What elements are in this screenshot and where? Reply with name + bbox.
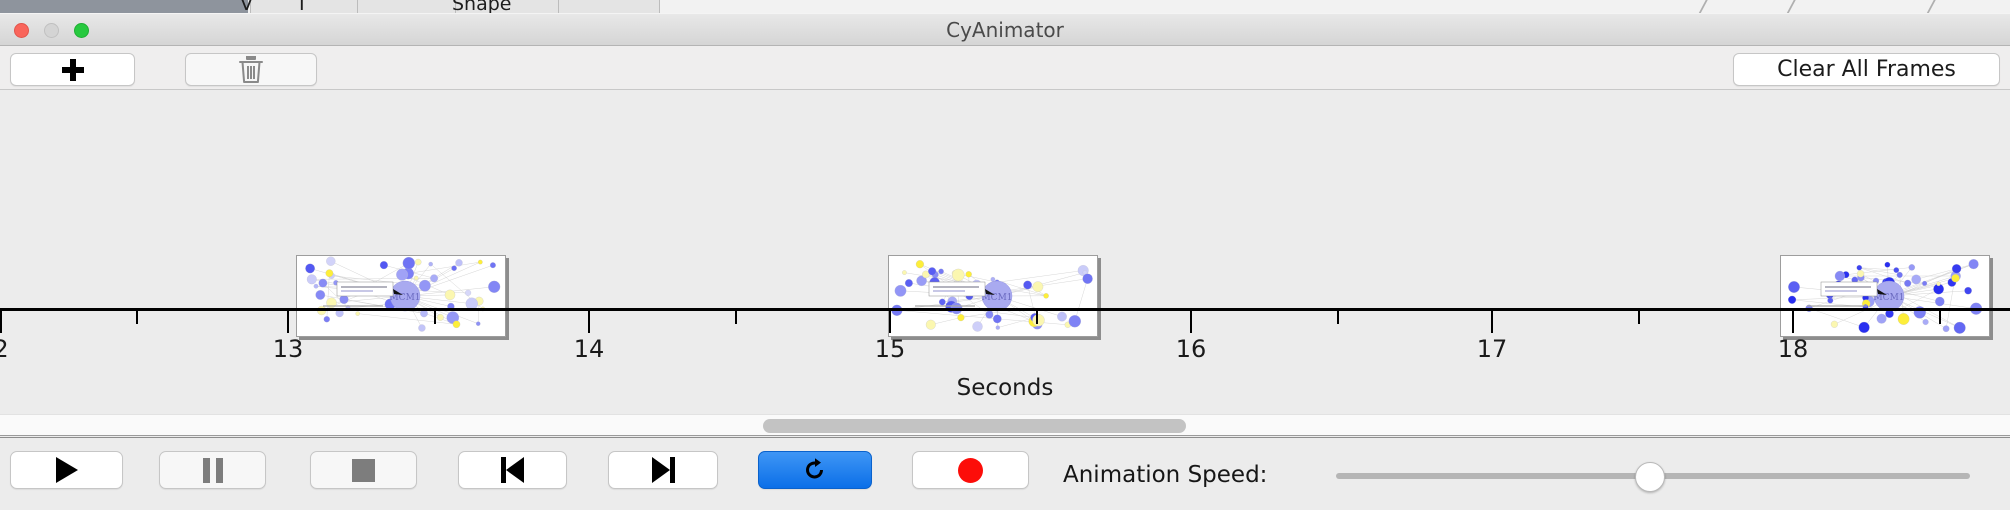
- background-titlebar-dark: [0, 0, 248, 13]
- animation-speed-label: Animation Speed:: [1063, 462, 1267, 488]
- axis-tick-minor: [1036, 311, 1038, 324]
- axis-tick-label: 17: [1477, 335, 1508, 363]
- axis-tick-minor: [434, 311, 436, 324]
- axis-tick-major: [0, 311, 2, 333]
- background-tab-4: [558, 0, 660, 14]
- background-hatch-2: [1786, 0, 1795, 14]
- skip-start-button[interactable]: [458, 451, 567, 489]
- background-hatch-3: [1926, 0, 1935, 14]
- timeline-panel[interactable]: MCM1MCM1MCM1 2131415161718 Seconds: [0, 90, 2010, 414]
- stop-button[interactable]: [310, 451, 417, 489]
- pause-button[interactable]: [159, 451, 266, 489]
- axis-tick-label: 15: [875, 335, 906, 363]
- background-window-strip: V T Shape: [0, 0, 2010, 14]
- skip-start-icon: [501, 457, 524, 483]
- axis-tick-minor: [1939, 311, 1941, 324]
- scrollbar-thumb[interactable]: [763, 419, 1186, 433]
- play-icon: [56, 457, 78, 483]
- timeline-axis: [0, 308, 2010, 311]
- axis-tick-label: 16: [1176, 335, 1207, 363]
- trash-icon: [238, 55, 264, 85]
- toolbar: Clear All Frames: [0, 46, 2010, 90]
- axis-tick-major: [1491, 311, 1493, 333]
- svg-text:MCM1: MCM1: [1873, 293, 1904, 303]
- axis-tick-major: [889, 311, 891, 333]
- svg-text:MCM1: MCM1: [389, 293, 420, 303]
- timeline-scrollbar[interactable]: [0, 414, 2010, 436]
- axis-tick-major: [287, 311, 289, 333]
- timeline-frame-thumbnail[interactable]: MCM1: [888, 255, 1098, 337]
- axis-tick-minor: [136, 311, 138, 324]
- background-glyph-2: T: [296, 0, 308, 14]
- clear-all-frames-button[interactable]: Clear All Frames: [1733, 53, 2000, 86]
- svg-text:MCM1: MCM1: [981, 293, 1012, 303]
- record-icon: [958, 458, 983, 483]
- animation-speed-thumb[interactable]: [1635, 462, 1665, 492]
- background-tab-2: [357, 0, 456, 14]
- loop-icon: [801, 456, 829, 484]
- transport-bar: Animation Speed:: [0, 437, 2010, 510]
- timeline-frame-thumbnail[interactable]: MCM1: [1780, 255, 1990, 337]
- clear-all-frames-label: Clear All Frames: [1777, 57, 1956, 82]
- skip-end-button[interactable]: [608, 451, 718, 489]
- axis-tick-label: 13: [273, 335, 304, 363]
- axis-tick-major: [1190, 311, 1192, 333]
- axis-title: Seconds: [0, 375, 2010, 401]
- axis-tick-major: [1792, 311, 1794, 333]
- add-frame-button[interactable]: [10, 53, 135, 86]
- axis-tick-major: [588, 311, 590, 333]
- record-button[interactable]: [912, 451, 1029, 489]
- play-button[interactable]: [10, 451, 123, 489]
- axis-tick-label: 2: [0, 335, 9, 363]
- stop-icon: [352, 459, 375, 482]
- background-title-shape: Shape: [452, 0, 512, 14]
- axis-tick-label: 18: [1778, 335, 1809, 363]
- timeline-frame-thumbnail[interactable]: MCM1: [296, 255, 506, 337]
- loop-button[interactable]: [758, 451, 872, 489]
- skip-end-icon: [652, 457, 675, 483]
- plus-icon: [62, 59, 84, 81]
- axis-tick-minor: [1638, 311, 1640, 324]
- pause-icon: [203, 458, 223, 483]
- delete-frame-button[interactable]: [185, 53, 317, 86]
- axis-tick-minor: [1337, 311, 1339, 324]
- window-title: CyAnimator: [0, 14, 2010, 47]
- axis-tick-label: 14: [574, 335, 605, 363]
- background-hatch-1: [1698, 0, 1707, 14]
- axis-tick-minor: [735, 311, 737, 324]
- titlebar[interactable]: CyAnimator: [0, 13, 2010, 46]
- background-glyph-1: V: [240, 0, 253, 14]
- cyanimator-window: V T Shape CyAnimator Clear All Frames MC: [0, 0, 2010, 510]
